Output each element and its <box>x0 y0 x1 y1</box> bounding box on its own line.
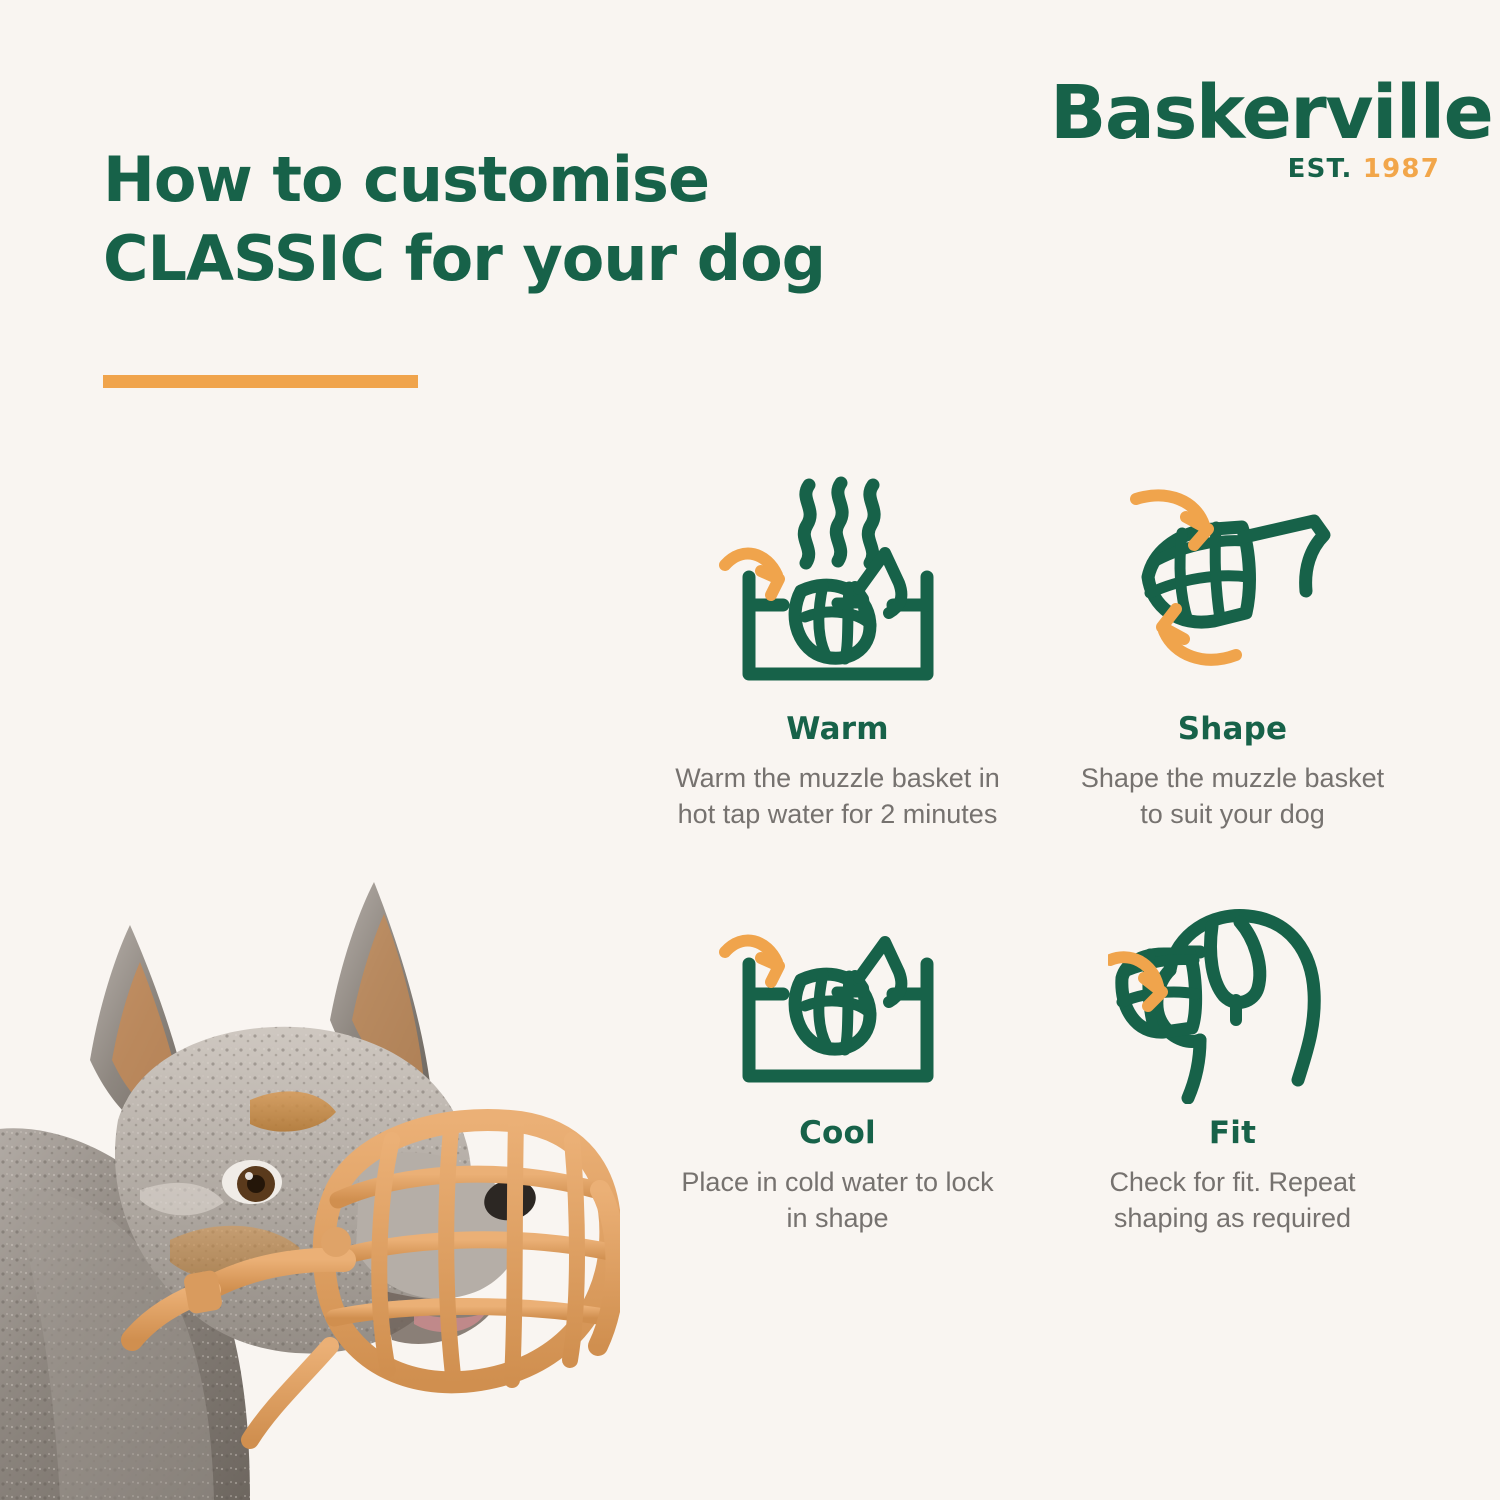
step-title-warm: Warm <box>786 711 888 747</box>
muzzle-shaping-arrows-icon <box>1118 462 1348 707</box>
muzzle-knob <box>321 1227 351 1257</box>
page-title: How to customise CLASSIC for your dog <box>103 140 923 299</box>
step-title-fit: Fit <box>1209 1115 1256 1151</box>
step-description-fit: Check for fit. Repeat shaping as require… <box>1068 1165 1398 1237</box>
brand-name-text: Baskerville <box>1050 70 1492 156</box>
dog-head-muzzle-fit-icon <box>1108 896 1358 1111</box>
est-year: 1987 <box>1363 154 1440 184</box>
brand-logo: Baskerville ® EST. 1987 <box>1050 78 1440 184</box>
muzzle-buckle <box>183 1269 223 1314</box>
page-title-line-2: CLASSIC for your dog <box>103 219 923 298</box>
basin-steam-muzzle-icon <box>713 462 963 707</box>
est-label: EST. <box>1288 154 1353 184</box>
page-title-line-1: How to customise <box>103 140 923 219</box>
basin-cold-muzzle-icon <box>713 896 963 1111</box>
step-description-warm: Warm the muzzle basket in hot tap water … <box>673 761 1003 833</box>
step-title-cool: Cool <box>799 1115 876 1151</box>
dog-with-muzzle-photo <box>0 500 620 1500</box>
title-underline-rule <box>103 375 418 388</box>
step-description-cool: Place in cold water to lock in shape <box>673 1165 1003 1237</box>
step-card-cool: Cool Place in cold water to lock in shap… <box>640 896 1035 1322</box>
step-card-shape: Shape Shape the muzzle basket to suit yo… <box>1035 462 1430 892</box>
step-title-shape: Shape <box>1178 711 1288 747</box>
brand-established: EST. 1987 <box>1050 154 1440 184</box>
step-card-fit: Fit Check for fit. Repeat shaping as req… <box>1035 896 1430 1322</box>
step-card-warm: Warm Warm the muzzle basket in hot tap w… <box>640 462 1035 892</box>
infographic-canvas: Baskerville ® EST. 1987 How to customise… <box>0 0 1500 1500</box>
step-description-shape: Shape the muzzle basket to suit your dog <box>1068 761 1398 833</box>
steps-grid: Warm Warm the muzzle basket in hot tap w… <box>640 462 1430 1322</box>
brand-name: Baskerville ® <box>1050 78 1492 148</box>
dog-illustration <box>0 500 620 1500</box>
